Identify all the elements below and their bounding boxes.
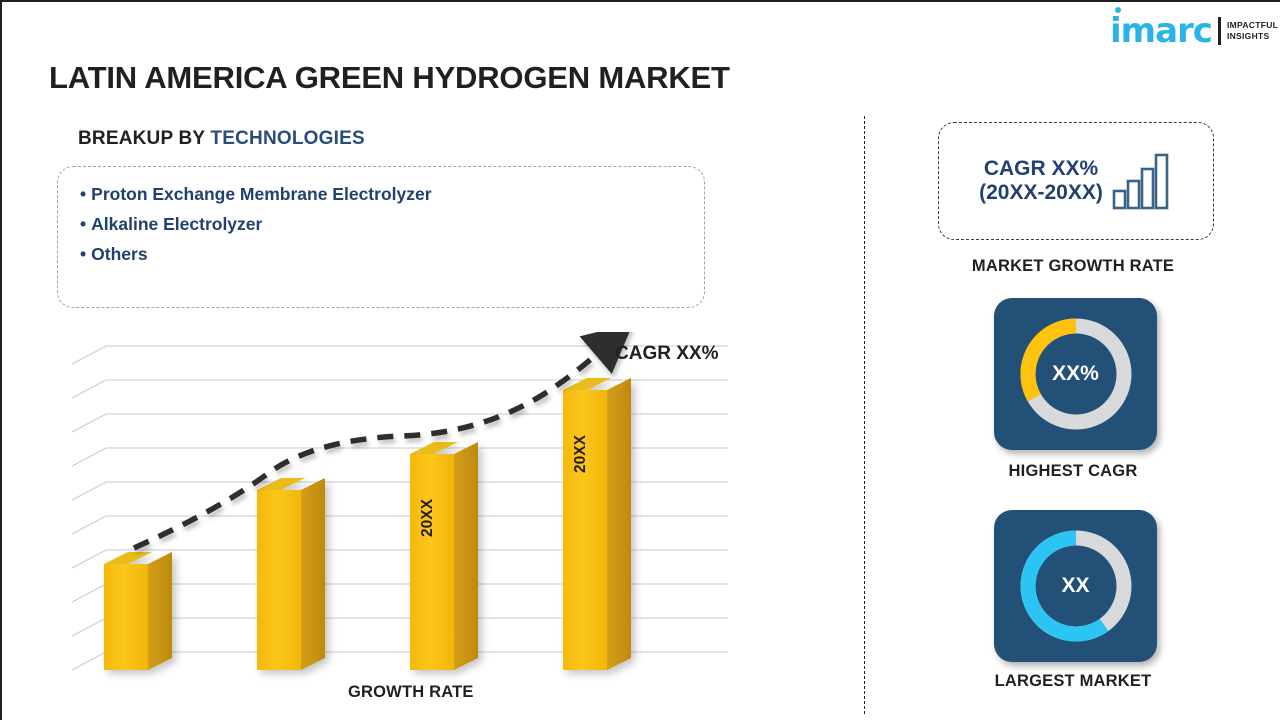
highest-cagr-value: XX% <box>1052 362 1099 386</box>
chart-svg: 20XX 20XX <box>52 332 752 702</box>
logo-dot-icon <box>1115 7 1121 13</box>
chart-bar <box>257 478 325 670</box>
list-item-label: Others <box>91 244 147 264</box>
cagr-value: CAGR XX% (20XX-20XX) <box>979 157 1103 205</box>
logo-tagline: IMPACTFUL INSIGHTS <box>1227 20 1278 43</box>
highest-cagr-caption: HIGHEST CAGR <box>864 462 1280 481</box>
subtitle-prefix: BREAKUP BY <box>78 128 210 149</box>
largest-market-caption: LARGEST MARKET <box>864 672 1280 691</box>
chart-x-axis-label: GROWTH RATE <box>348 683 474 702</box>
list-item-label: Alkaline Electrolyzer <box>91 214 262 234</box>
chart-bar <box>104 552 172 670</box>
logo-wordmark: imarc <box>1110 14 1212 48</box>
panel-divider <box>864 116 865 714</box>
imarc-logo: imarc IMPACTFUL INSIGHTS <box>1110 14 1278 48</box>
logo-tagline-line2: INSIGHTS <box>1227 31 1278 42</box>
list-item-label: Proton Exchange Membrane Electrolyzer <box>91 184 431 204</box>
list-item: •Alkaline Electrolyzer <box>80 209 682 239</box>
growth-bar-chart: 20XX 20XX <box>52 332 752 702</box>
logo-text: imarc <box>1110 11 1212 51</box>
cagr-line-1: CAGR XX% <box>979 157 1103 181</box>
section-subtitle: BREAKUP BY TECHNOLOGIES <box>78 128 365 150</box>
infographic-page: imarc IMPACTFUL INSIGHTS LATIN AMERICA G… <box>0 0 1280 720</box>
breakup-list-box: •Proton Exchange Membrane Electrolyzer •… <box>57 166 705 308</box>
logo-divider <box>1218 17 1221 45</box>
market-growth-rate-caption: MARKET GROWTH RATE <box>864 257 1280 276</box>
logo-tagline-line1: IMPACTFUL <box>1227 20 1278 31</box>
page-title: LATIN AMERICA GREEN HYDROGEN MARKET <box>49 60 730 96</box>
chart-cagr-annotation: CAGR XX% <box>615 343 718 365</box>
list-item: •Others <box>80 239 682 269</box>
list-item: •Proton Exchange Membrane Electrolyzer <box>80 179 682 209</box>
market-growth-rate-box: CAGR XX% (20XX-20XX) <box>938 122 1214 240</box>
bullet-icon: • <box>80 214 86 234</box>
largest-market-card: XX <box>994 510 1157 662</box>
bar-chart-icon <box>1111 150 1173 212</box>
bullet-icon: • <box>80 184 86 204</box>
bar-label: 20XX <box>419 498 436 537</box>
largest-market-value: XX <box>1061 574 1089 598</box>
cagr-line-2: (20XX-20XX) <box>979 181 1103 205</box>
chart-bar: 20XX <box>410 442 478 670</box>
bullet-icon: • <box>80 244 86 264</box>
highest-cagr-card: XX% <box>994 298 1157 450</box>
bar-label: 20XX <box>572 434 589 473</box>
subtitle-accent: TECHNOLOGIES <box>210 128 364 149</box>
chart-bar: 20XX <box>563 378 631 670</box>
